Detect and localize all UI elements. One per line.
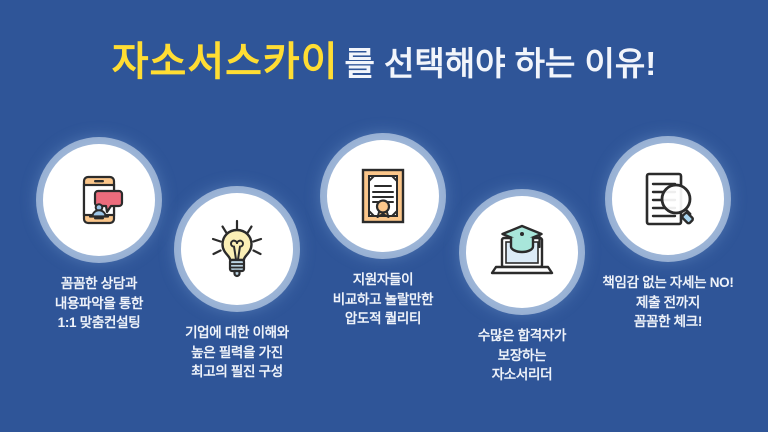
caption-line: 자소서리더 (422, 365, 622, 385)
caption-line: 최고의 필진 구성 (137, 362, 337, 382)
certificate-award-icon (352, 165, 414, 227)
lightbulb-idea-icon (204, 216, 270, 282)
feature-caption-writers: 기업에 대한 이해와 높은 필력을 가진 최고의 필진 구성 (137, 323, 337, 382)
laptop-graduation-cap-icon (489, 221, 555, 283)
document-magnifier-icon (636, 167, 700, 231)
promo-poster: 자소서스카이를 선택해야 하는 이유! (0, 0, 768, 432)
feature-circle-writers (181, 193, 293, 305)
feature-circle-check (612, 143, 724, 255)
caption-line: 높은 필력을 가진 (137, 343, 337, 363)
feature-item-check: 책임감 없는 자세는 NO! 제출 전까지 꼼꼼한 체크! (568, 143, 768, 332)
caption-line: 보장하는 (422, 346, 622, 366)
feature-caption-leader: 수많은 합격자가 보장하는 자소서리더 (422, 326, 622, 385)
page-title: 자소서스카이를 선택해야 하는 이유! (0, 42, 768, 82)
caption-line: 제출 전까지 (568, 293, 768, 313)
smartphone-chat-icon (67, 168, 131, 232)
title-brand-text: 자소서스카이 (112, 40, 339, 84)
title-rest-text: 를 선택해야 하는 이유! (345, 45, 657, 82)
feature-caption-check: 책임감 없는 자세는 NO! 제출 전까지 꼼꼼한 체크! (568, 273, 768, 332)
feature-circle-leader (466, 196, 578, 308)
caption-line: 꼼꼼한 체크! (568, 312, 768, 332)
caption-line: 책임감 없는 자세는 NO! (568, 273, 768, 293)
